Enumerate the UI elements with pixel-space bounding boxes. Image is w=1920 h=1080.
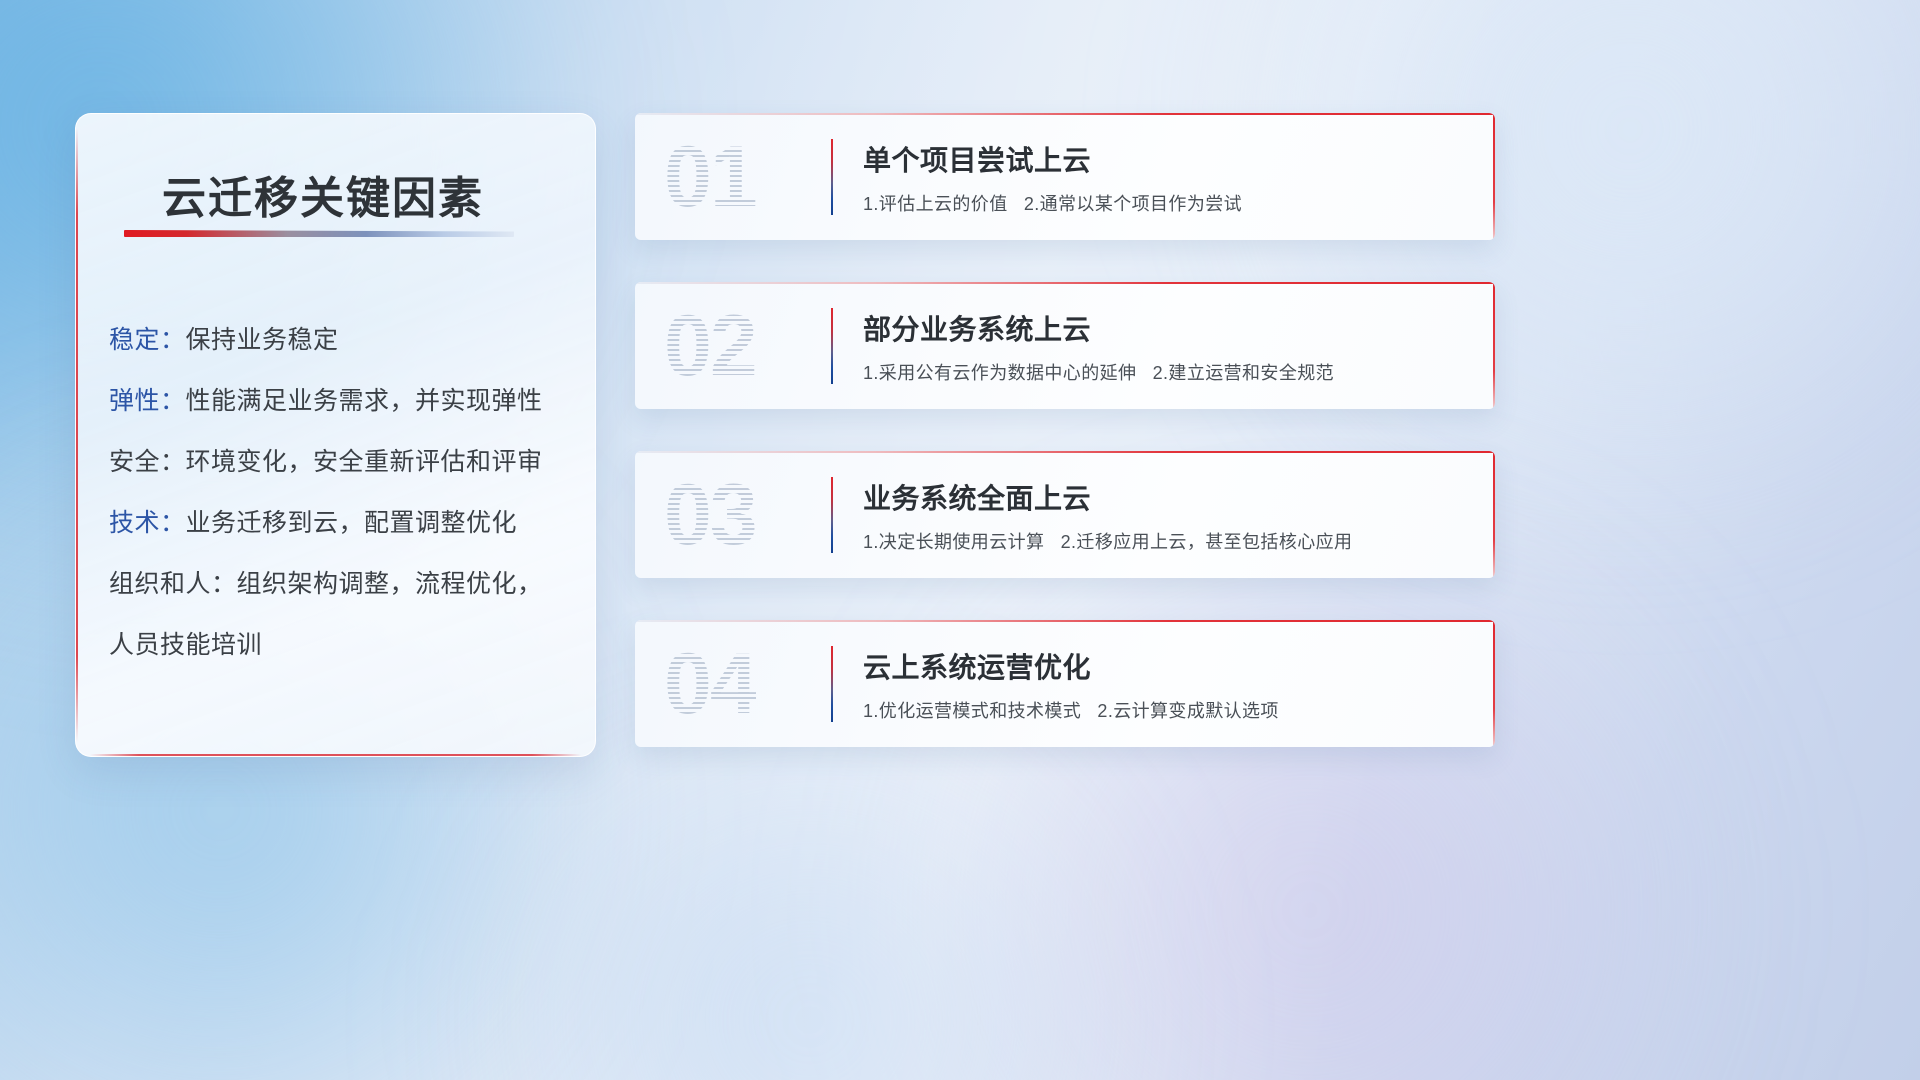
factor-label: 组织和人： [109, 570, 237, 598]
title-underline-accent [124, 230, 514, 237]
stage-description: 1.优化运营模式和技术模式 2.云计算变成默认选项 [863, 697, 1279, 723]
factor-label: 技术： [109, 509, 186, 537]
stage-number: 02 [664, 294, 756, 398]
factor-label: 安全： [109, 448, 186, 476]
card-right-accent-line [1493, 620, 1495, 747]
stage-description: 1.评估上云的价值 2.通常以某个项目作为尝试 [863, 190, 1242, 216]
card-right-accent-line [1493, 451, 1495, 578]
card-right-accent-line [1493, 282, 1495, 409]
stage-title: 单个项目尝试上云 [863, 139, 1091, 179]
factor-body: 业务迁移到云，配置调整优化 [186, 509, 518, 537]
factor-body: 组织架构调整，流程优化， [237, 570, 543, 598]
card-right-accent-line [1493, 113, 1495, 240]
stage-number: 04 [664, 632, 756, 736]
stage-description: 1.决定长期使用云计算 2.迁移应用上云，甚至包括核心应用 [863, 528, 1352, 554]
factor-body: 性能满足业务需求，并实现弹性 [186, 387, 543, 415]
card-top-accent-line [635, 282, 1495, 284]
factor-body: 环境变化，安全重新评估和评审 [186, 448, 543, 476]
card-divider-line [831, 477, 833, 553]
card-top-accent-line [635, 451, 1495, 453]
stage-card[interactable]: 03业务系统全面上云1.决定长期使用云计算 2.迁移应用上云，甚至包括核心应用 [635, 451, 1495, 578]
stage-title: 部分业务系统上云 [863, 308, 1091, 348]
factor-row: 组织和人：组织架构调整，流程优化， [109, 554, 571, 615]
factor-label: 弹性： [109, 387, 186, 415]
stage-number: 03 [664, 463, 756, 567]
factor-row: 安全：环境变化，安全重新评估和评审 [109, 432, 571, 493]
stage-description: 1.采用公有云作为数据中心的延伸 2.建立运营和安全规范 [863, 359, 1334, 385]
stage-title: 云上系统运营优化 [863, 646, 1091, 686]
card-divider-line [831, 308, 833, 384]
stage-card[interactable]: 01单个项目尝试上云1.评估上云的价值 2.通常以某个项目作为尝试 [635, 113, 1495, 240]
stage-title: 业务系统全面上云 [863, 477, 1091, 517]
card-top-accent-line [635, 113, 1495, 115]
factor-row: 人员技能培训 [109, 615, 571, 676]
factor-row: 弹性：性能满足业务需求，并实现弹性 [109, 371, 571, 432]
factor-row: 技术：业务迁移到云，配置调整优化 [109, 493, 571, 554]
factor-body: 人员技能培训 [109, 631, 262, 659]
key-factors-panel: 云迁移关键因素 稳定：保持业务稳定弹性：性能满足业务需求，并实现弹性安全：环境变… [75, 113, 596, 757]
card-top-accent-line [635, 620, 1495, 622]
card-divider-line [831, 646, 833, 722]
stage-number: 01 [664, 125, 756, 229]
stage-card[interactable]: 04云上系统运营优化1.优化运营模式和技术模式 2.云计算变成默认选项 [635, 620, 1495, 747]
stage-card[interactable]: 02部分业务系统上云1.采用公有云作为数据中心的延伸 2.建立运营和安全规范 [635, 282, 1495, 409]
page-title: 云迁移关键因素 [162, 162, 484, 226]
stage-card-list: 01单个项目尝试上云1.评估上云的价值 2.通常以某个项目作为尝试02部分业务系… [635, 113, 1495, 789]
factor-body: 保持业务稳定 [186, 326, 339, 354]
factor-row: 稳定：保持业务稳定 [109, 310, 571, 371]
factor-label: 稳定： [109, 326, 186, 354]
factor-list: 稳定：保持业务稳定弹性：性能满足业务需求，并实现弹性安全：环境变化，安全重新评估… [109, 310, 571, 676]
card-divider-line [831, 139, 833, 215]
